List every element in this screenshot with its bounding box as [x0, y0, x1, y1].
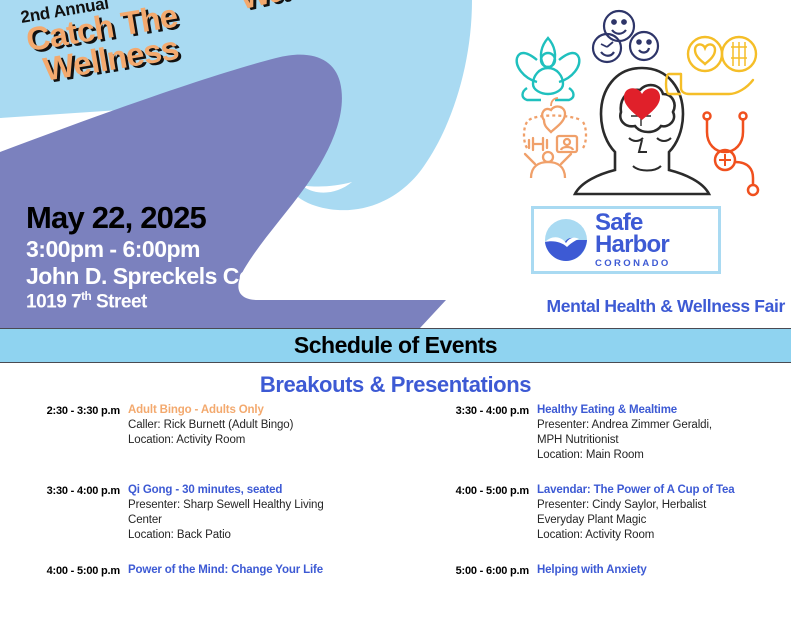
fair-tagline: Mental Health & Wellness Fair	[410, 296, 785, 317]
meditation-lotus-icon	[517, 38, 580, 100]
session-detail-line: Center	[128, 513, 405, 528]
session-detail-line: Presenter: Sharp Sewell Healthy Living	[128, 498, 405, 513]
smiley-faces-icon	[593, 11, 658, 62]
session-time: 3:30 - 4:00 p.m	[0, 484, 120, 543]
session-time: 2:30 - 3:30 p.m	[0, 404, 120, 448]
session-title: Healthy Eating & Mealtime	[537, 404, 791, 417]
address-street: Street	[91, 291, 147, 312]
schedule-header-title: Schedule of Events	[294, 332, 497, 359]
logo-word-harbor: Harbor	[595, 234, 671, 257]
session-row: 4:00 - 5:00 p.mPower of the Mind: Change…	[0, 564, 405, 632]
session-title: Qi Gong - 30 minutes, seated	[128, 484, 405, 497]
session-time: 4:00 - 5:00 p.m	[0, 564, 120, 578]
session-row: 3:30 - 4:00 p.mQi Gong - 30 minutes, sea…	[0, 484, 405, 552]
schedule-grid: 2:30 - 3:30 p.mAdult Bingo - Adults Only…	[0, 404, 791, 644]
schedule-column-right: 3:30 - 4:00 p.mHealthy Eating & Mealtime…	[405, 404, 791, 644]
session-row: 2:30 - 3:30 p.mAdult Bingo - Adults Only…	[0, 404, 405, 472]
safe-harbor-logo: Safe Harbor CORONADO	[531, 206, 721, 274]
session-title: Power of the Mind: Change Your Life	[128, 564, 405, 577]
event-details: May 22, 2025 3:00pm - 6:00pm John D. Spr…	[26, 202, 426, 313]
safe-harbor-wave-mark	[543, 217, 589, 263]
session-body: Qi Gong - 30 minutes, seatedPresenter: S…	[126, 484, 405, 543]
heart-brain-in-hand-icon	[666, 37, 756, 94]
schedule-header-bar: Schedule of Events	[0, 328, 791, 363]
session-title: Lavendar: The Power of A Cup of Tea	[537, 484, 791, 497]
event-venue: John D. Spreckels Center	[26, 263, 426, 290]
session-detail-line: Location: Activity Room	[537, 528, 791, 543]
address-ordinal: th	[81, 290, 91, 303]
address-number: 1019 7	[26, 291, 81, 312]
session-body: Healthy Eating & MealtimePresenter: Andr…	[535, 404, 791, 463]
schedule-column-left: 2:30 - 3:30 p.mAdult Bingo - Adults Only…	[0, 404, 405, 644]
stethoscope-icon	[704, 113, 759, 196]
hero-banner: 2nd Annual Catch The Wellness Wave May 2…	[0, 0, 791, 328]
nutrition-fitness-icon	[524, 98, 586, 178]
breakouts-section-title: Breakouts & Presentations	[0, 372, 791, 398]
session-time: 5:00 - 6:00 p.m	[405, 564, 529, 578]
session-detail-line: Caller: Rick Burnett (Adult Bingo)	[128, 418, 405, 433]
session-time: 4:00 - 5:00 p.m	[405, 484, 529, 543]
heart-icon	[624, 88, 660, 120]
session-detail-line: MPH Nutritionist	[537, 433, 791, 448]
session-row: 3:30 - 4:00 p.mHealthy Eating & Mealtime…	[405, 404, 791, 472]
event-address: 1019 7th Street	[26, 290, 426, 314]
session-title: Adult Bingo - Adults Only	[128, 404, 405, 417]
head-brain-heart-icon	[575, 68, 709, 194]
session-body: Power of the Mind: Change Your Life	[126, 564, 405, 578]
event-date: May 22, 2025	[26, 202, 426, 235]
session-body: Helping with Anxiety	[535, 564, 791, 578]
event-time: 3:00pm - 6:00pm	[26, 236, 426, 263]
session-row: 4:00 - 5:00 p.mLavendar: The Power of A …	[405, 484, 791, 552]
wellness-icon-cluster	[497, 2, 787, 198]
session-time: 3:30 - 4:00 p.m	[405, 404, 529, 463]
session-detail-line: Location: Back Patio	[128, 528, 405, 543]
session-detail-line: Location: Main Room	[537, 448, 791, 463]
logo-word-coronado: CORONADO	[595, 259, 671, 268]
session-title: Helping with Anxiety	[537, 564, 791, 577]
session-detail-line: Everyday Plant Magic	[537, 513, 791, 528]
session-detail-line: Presenter: Cindy Saylor, Herbalist	[537, 498, 791, 513]
session-row: 5:00 - 6:00 p.mHelping with Anxiety	[405, 564, 791, 632]
session-detail-line: Location: Activity Room	[128, 433, 405, 448]
session-body: Lavendar: The Power of A Cup of TeaPrese…	[535, 484, 791, 543]
session-detail-line: Presenter: Andrea Zimmer Geraldi,	[537, 418, 791, 433]
session-body: Adult Bingo - Adults OnlyCaller: Rick Bu…	[126, 404, 405, 448]
title-line-3: Wave	[236, 0, 324, 17]
